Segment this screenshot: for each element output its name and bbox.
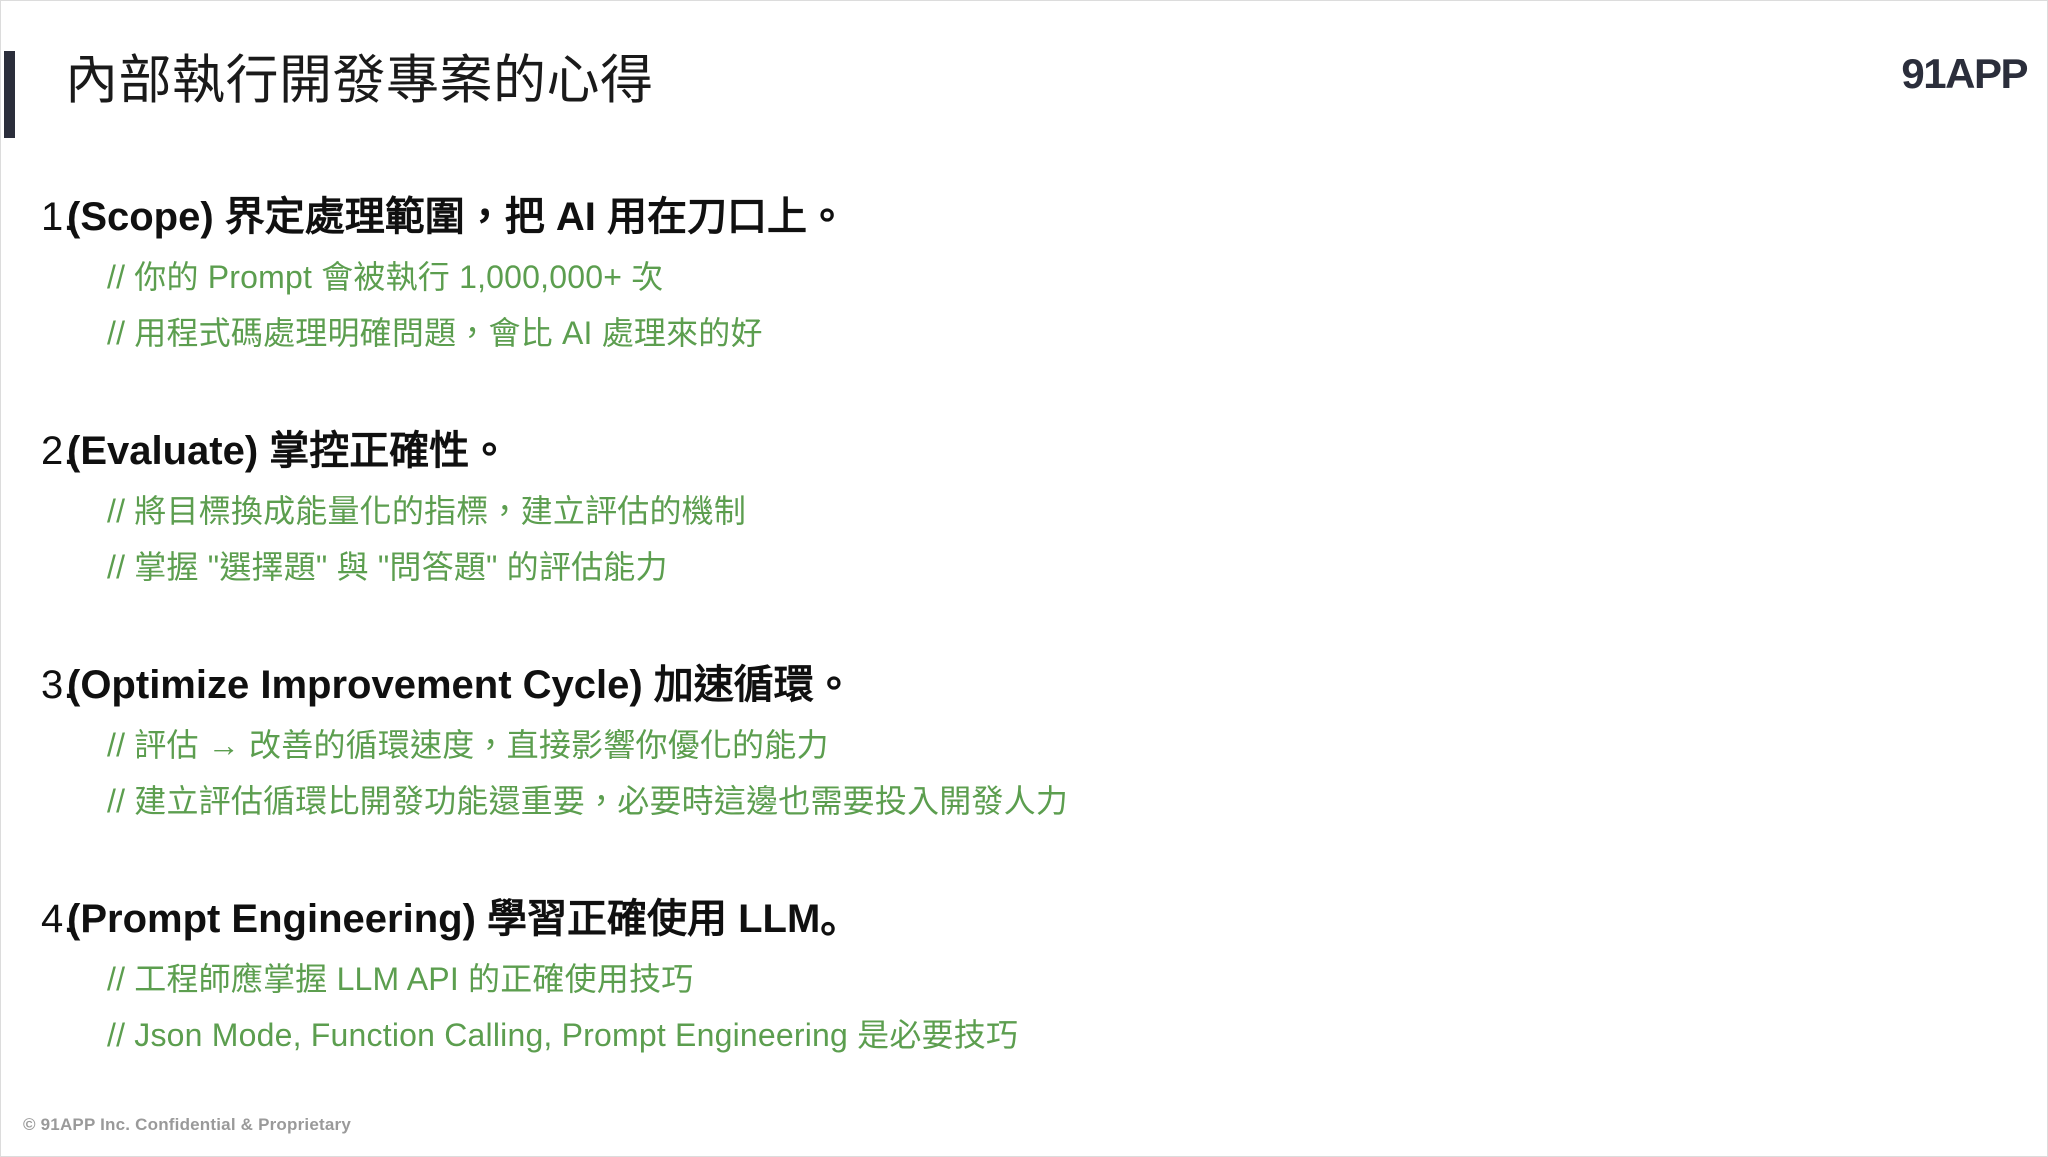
point-index: 4.: [1, 891, 67, 947]
point-heading: (Scope) 界定處理範圍，把 AI 用在刀口上。: [67, 189, 847, 245]
slide: 內部執行開發專案的心得 91APP 1. (Scope) 界定處理範圍，把 AI…: [0, 0, 2048, 1157]
point-comments: // 評估 → 改善的循環速度，直接影響你優化的能力 // 建立評估循環比開發功…: [1, 717, 2048, 829]
comment-line: // 將目標換成能量化的指標，建立評估的機制: [107, 483, 2048, 539]
point-heading-row: 1. (Scope) 界定處理範圍，把 AI 用在刀口上。: [1, 189, 2048, 245]
page-title: 內部執行開發專案的心得: [65, 43, 654, 119]
point-comments: // 你的 Prompt 會被執行 1,000,000+ 次 // 用程式碼處理…: [1, 249, 2048, 361]
comment-line: // 掌握 "選擇題" 與 "問答題" 的評估能力: [107, 539, 2048, 595]
point-heading-row: 4. (Prompt Engineering) 學習正確使用 LLM。: [1, 891, 2048, 947]
brand-logo-91app: 91APP: [1901, 49, 2027, 99]
point-heading: (Evaluate) 掌控正確性。: [67, 423, 509, 479]
point-heading: (Prompt Engineering) 學習正確使用 LLM。: [67, 891, 860, 947]
slide-header: 內部執行開發專案的心得 91APP: [1, 1, 2048, 171]
comment-line: // 建立評估循環比開發功能還重要，必要時這邊也需要投入開發人力: [107, 773, 2048, 829]
list-item: 2. (Evaluate) 掌控正確性。 // 將目標換成能量化的指標，建立評估…: [1, 423, 2048, 657]
comment-line: // 用程式碼處理明確問題，會比 AI 處理來的好: [107, 305, 2048, 361]
comment-line: // 你的 Prompt 會被執行 1,000,000+ 次: [107, 249, 2048, 305]
point-comments: // 工程師應掌握 LLM API 的正確使用技巧 // Json Mode, …: [1, 951, 2048, 1063]
title-accent-bar: [4, 51, 15, 138]
list-item: 1. (Scope) 界定處理範圍，把 AI 用在刀口上。 // 你的 Prom…: [1, 189, 2048, 423]
point-heading-row: 2. (Evaluate) 掌控正確性。: [1, 423, 2048, 479]
points-list: 1. (Scope) 界定處理範圍，把 AI 用在刀口上。 // 你的 Prom…: [1, 189, 2048, 1125]
comment-line: // Json Mode, Function Calling, Prompt E…: [107, 1007, 2048, 1063]
list-item: 4. (Prompt Engineering) 學習正確使用 LLM。 // 工…: [1, 891, 2048, 1125]
point-heading: (Optimize Improvement Cycle) 加速循環。: [67, 657, 854, 713]
point-index: 2.: [1, 423, 67, 479]
comment-line: // 工程師應掌握 LLM API 的正確使用技巧: [107, 951, 2048, 1007]
point-comments: // 將目標換成能量化的指標，建立評估的機制 // 掌握 "選擇題" 與 "問答…: [1, 483, 2048, 595]
point-heading-row: 3. (Optimize Improvement Cycle) 加速循環。: [1, 657, 2048, 713]
point-index: 1.: [1, 189, 67, 245]
point-index: 3.: [1, 657, 67, 713]
list-item: 3. (Optimize Improvement Cycle) 加速循環。 //…: [1, 657, 2048, 891]
comment-line: // 評估 → 改善的循環速度，直接影響你優化的能力: [107, 717, 2048, 773]
footer-copyright: © 91APP Inc. Confidential & Proprietary: [23, 1114, 351, 1136]
